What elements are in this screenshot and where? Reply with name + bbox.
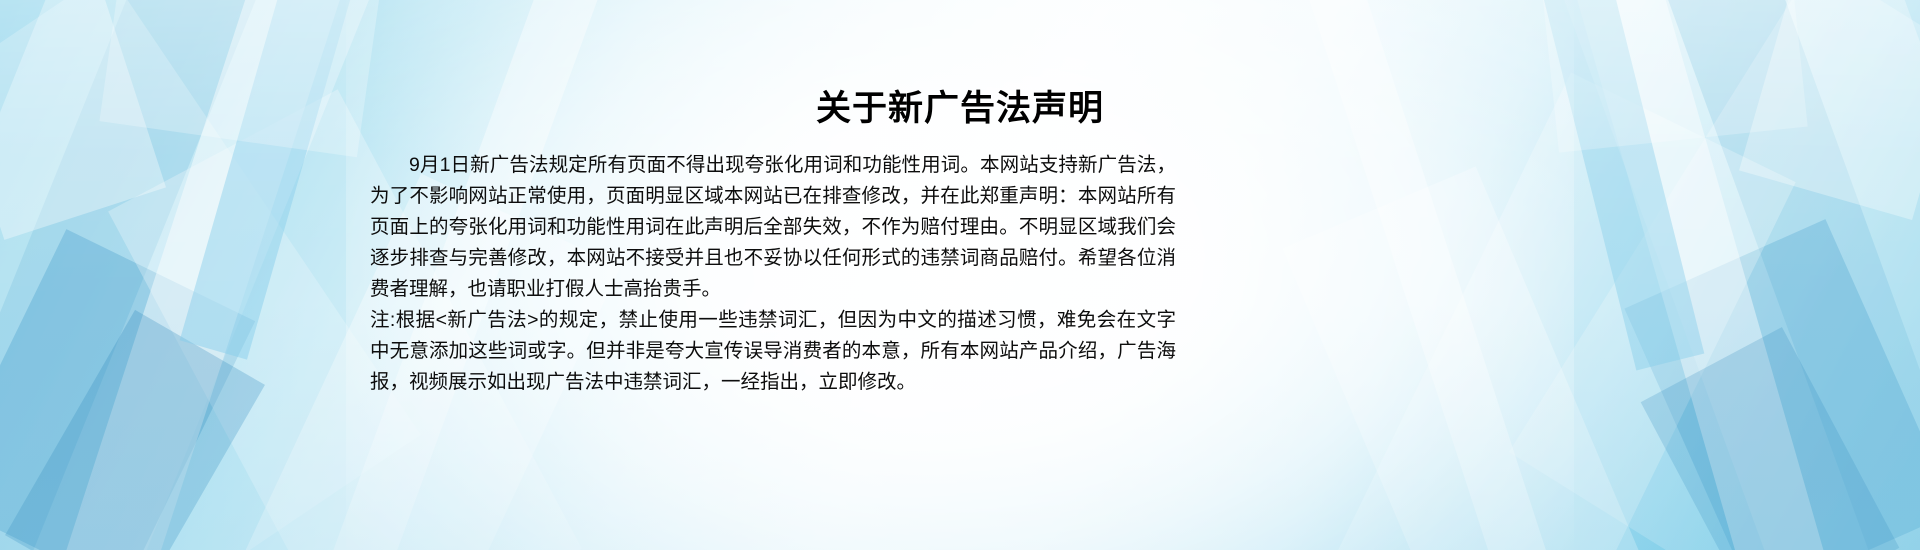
statement-content: 关于新广告法声明 9月1日新广告法规定所有页面不得出现夸张化用词和功能性用词。本… bbox=[0, 0, 1920, 550]
statement-paragraph-note: 注:根据<新广告法>的规定，禁止使用一些违禁词汇，但因为中文的描述习惯，难免会在… bbox=[370, 305, 1176, 398]
page-title: 关于新广告法声明 bbox=[0, 88, 1920, 130]
statement-paragraph-main: 9月1日新广告法规定所有页面不得出现夸张化用词和功能性用词。本网站支持新广告法，… bbox=[370, 150, 1176, 305]
statement-body: 9月1日新广告法规定所有页面不得出现夸张化用词和功能性用词。本网站支持新广告法，… bbox=[370, 150, 1176, 398]
statement-banner: 关于新广告法声明 9月1日新广告法规定所有页面不得出现夸张化用词和功能性用词。本… bbox=[0, 0, 1920, 550]
